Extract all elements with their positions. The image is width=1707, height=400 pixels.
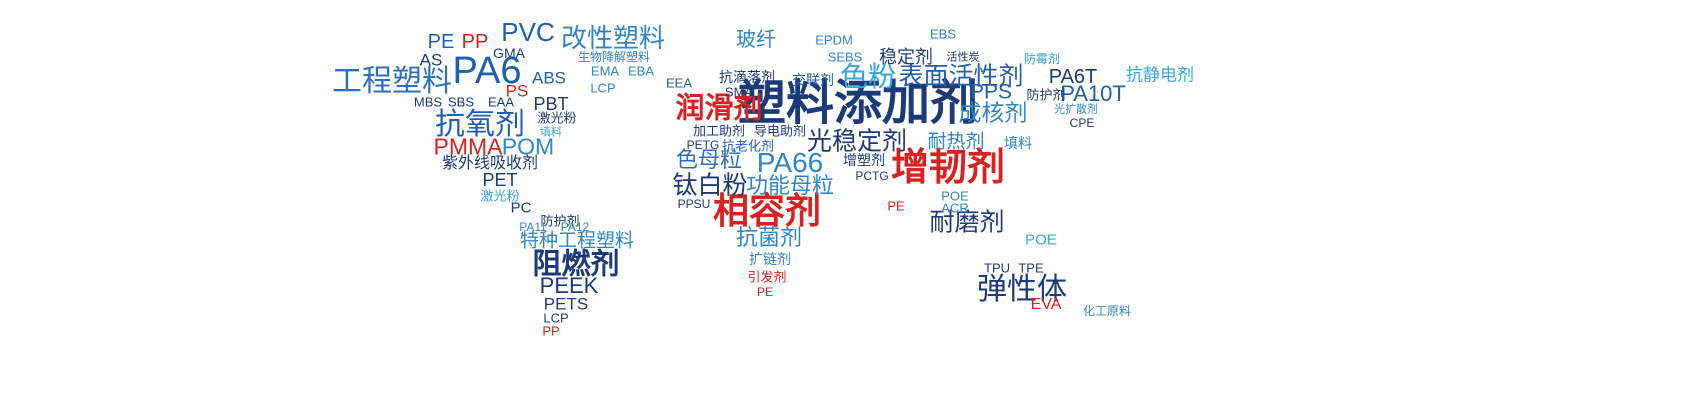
cloud-word[interactable]: 耐热剂 [927, 133, 984, 152]
cloud-word[interactable]: EVA [1031, 297, 1062, 313]
cloud-word[interactable]: 激光粉 [537, 112, 576, 125]
cloud-word[interactable]: 填料 [540, 128, 562, 139]
cloud-word[interactable]: 引发剂 [747, 271, 786, 284]
cloud-word[interactable]: CPE [1070, 117, 1095, 129]
cloud-word[interactable]: PP [462, 32, 489, 52]
cloud-word[interactable]: EEA [666, 77, 692, 90]
cloud-word[interactable]: PC [511, 201, 532, 216]
cloud-word[interactable]: 增韧剂 [891, 149, 1005, 187]
cloud-word[interactable]: PPSU [678, 198, 711, 210]
cloud-word[interactable]: 防护剂 [1026, 89, 1065, 102]
cloud-word[interactable]: 改性塑料 [561, 25, 665, 51]
cloud-word[interactable]: 化工原料 [1083, 305, 1131, 317]
cloud-word[interactable]: ACR [941, 202, 968, 215]
cloud-word[interactable]: EMA [591, 65, 619, 78]
cloud-word[interactable]: 功能母粒 [746, 175, 834, 197]
cloud-word[interactable]: PE [757, 286, 773, 298]
cloud-word[interactable]: GMA [493, 46, 525, 60]
cloud-word[interactable]: 光扩散剂 [1054, 105, 1098, 116]
cloud-word[interactable]: PE [887, 200, 904, 213]
cloud-word[interactable]: PETG [687, 139, 720, 151]
cloud-word[interactable]: AS [420, 52, 443, 69]
cloud-word[interactable]: 稳定剂 [879, 48, 933, 66]
cloud-word[interactable]: 交联剂 [792, 73, 834, 87]
cloud-word[interactable]: 工程塑料 [332, 67, 452, 97]
cloud-word[interactable]: 加工助剂 [693, 125, 745, 138]
cloud-word[interactable]: PA12 [561, 221, 589, 233]
cloud-word[interactable]: EAA [488, 96, 514, 109]
cloud-word[interactable]: POE [1025, 233, 1057, 248]
cloud-word[interactable]: TPE [1018, 262, 1043, 275]
cloud-word[interactable]: 成核剂 [959, 102, 1028, 125]
cloud-word[interactable]: PPS [970, 82, 1012, 103]
cloud-word[interactable]: SEBS [828, 51, 863, 64]
cloud-word[interactable]: TPU [984, 262, 1010, 275]
cloud-word[interactable]: PP [542, 325, 559, 338]
cloud-word[interactable]: PE [428, 32, 455, 52]
cloud-word[interactable]: 色粉 [840, 63, 896, 91]
cloud-word[interactable]: 钛白粉 [672, 174, 747, 199]
cloud-word[interactable]: PA6T [1049, 67, 1098, 87]
cloud-word[interactable]: PVC [501, 19, 554, 45]
cloud-word[interactable]: ABS [532, 70, 566, 87]
cloud-word[interactable]: 扩链剂 [749, 252, 791, 266]
cloud-word[interactable]: 光稳定剂 [807, 130, 907, 155]
cloud-word[interactable]: 生物降解塑料 [578, 51, 650, 63]
cloud-word[interactable]: LCP [590, 82, 615, 95]
cloud-word[interactable]: EBS [930, 28, 956, 41]
cloud-word[interactable]: PA11 [519, 221, 547, 233]
cloud-word[interactable]: 抗菌剂 [736, 227, 802, 249]
cloud-word[interactable]: 抗静电剂 [1126, 67, 1194, 84]
cloud-word[interactable]: 导电助剂 [754, 125, 806, 138]
cloud-word[interactable]: EPDM [815, 34, 853, 47]
cloud-word[interactable]: SMA [725, 86, 753, 99]
cloud-word[interactable]: 玻纤 [736, 30, 776, 50]
cloud-word[interactable]: 活性炭 [947, 53, 980, 64]
cloud-word[interactable]: 抗老化剂 [722, 140, 774, 153]
cloud-word[interactable]: PCTG [855, 170, 888, 182]
word-cloud-canvas: 塑料添加剂增韧剂相容剂润滑剂阻燃剂PA6工程塑料抗氧剂弹性体色粉改性塑料表面活性… [0, 0, 1707, 400]
cloud-word[interactable]: 防霉剂 [1024, 53, 1060, 65]
cloud-word[interactable]: 特种工程塑料 [520, 232, 634, 251]
cloud-word[interactable]: 抗滴落剂 [719, 70, 775, 84]
cloud-word[interactable]: 增塑剂 [843, 153, 885, 167]
cloud-word[interactable]: PET [482, 171, 517, 189]
cloud-word[interactable]: SBS [448, 96, 474, 109]
cloud-word[interactable]: MBS [414, 96, 442, 109]
cloud-word[interactable]: 填料 [1004, 136, 1032, 150]
cloud-word[interactable]: EBA [628, 65, 654, 78]
